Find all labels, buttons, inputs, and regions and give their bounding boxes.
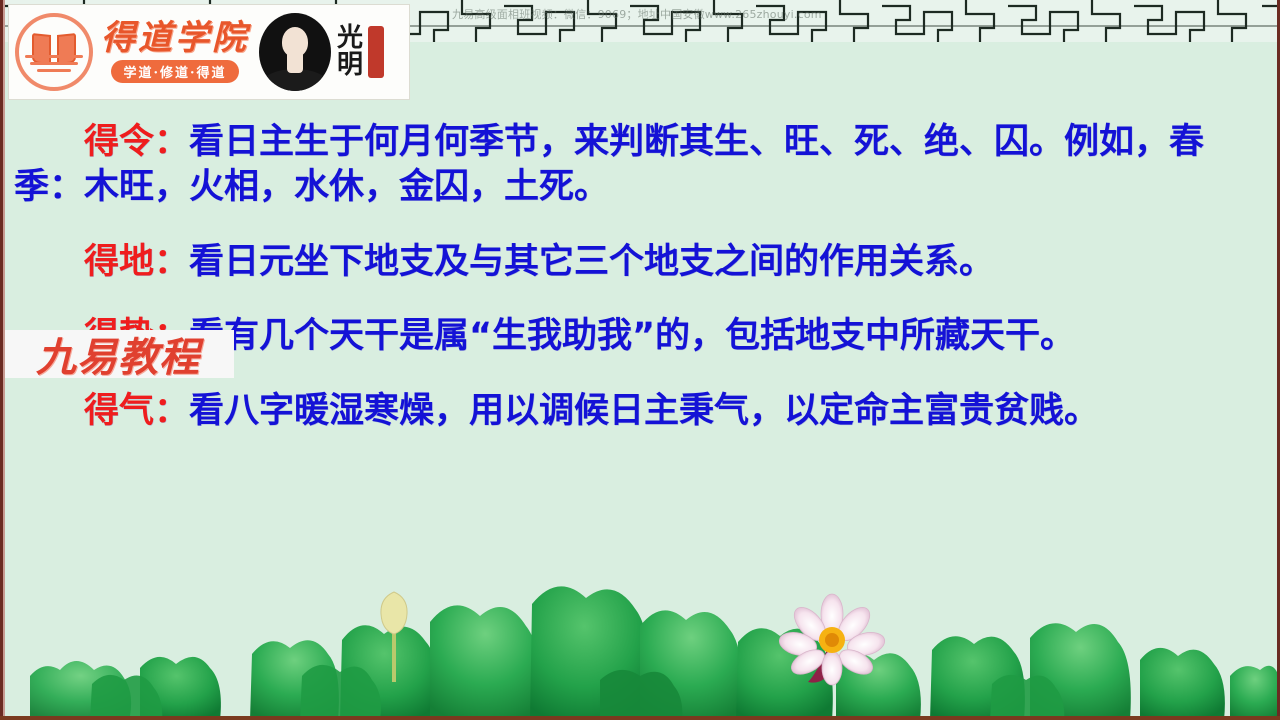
paragraph-deqi: 得气：看八字暖湿寒燥，用以调候日主秉气，以定命主富贵贫贱。 (14, 389, 1266, 434)
master-name-block: 光 明 (337, 25, 363, 80)
academy-banner-logo: 得道学院 学道·修道·得道 光 明 (8, 4, 410, 100)
master-portrait-icon (259, 13, 331, 91)
academy-title-block: 得道学院 学道·修道·得道 (101, 21, 249, 83)
paragraph-lead-dedi: 得地 (84, 242, 154, 282)
open-book-seal-icon (15, 13, 93, 91)
wave-lines-icon (25, 55, 83, 77)
paragraph-colon-3: ： (154, 391, 189, 431)
band-caption-text: 九易高级面相班视频：微信：9069；地址中国安徽www.265zhouyi.co… (452, 6, 822, 22)
course-watermark: 九易教程 (2, 330, 234, 378)
slide-body-text: 得令：看日主生于何月何季节，来判断其生、旺、死、绝、囚。例如，春季：木旺，火相，… (0, 120, 1280, 464)
paragraph-deling: 得令：看日主生于何月何季节，来判断其生、旺、死、绝、囚。例如，春季：木旺，火相，… (14, 120, 1266, 210)
paragraph-body-deshi: 看有几个天干是属“生我助我”的，包括地支中所藏天干。 (189, 316, 1075, 356)
paragraph-lead-deling: 得令 (84, 122, 154, 162)
academy-motto: 学道·修道·得道 (111, 60, 238, 83)
master-name-char2: 明 (337, 52, 363, 79)
master-name-char1: 光 (337, 25, 363, 52)
paragraph-lead-deqi: 得气 (84, 391, 154, 431)
paragraph-colon-0: ： (154, 122, 189, 162)
red-stamp-icon (368, 26, 384, 78)
lotus-flower (777, 594, 887, 685)
page-frame-bottom (0, 716, 1280, 720)
academy-name: 得道学院 (101, 21, 249, 55)
slide-canvas: 九易高级面相班视频：微信：9069；地址中国安徽www.265zhouyi.co… (0, 0, 1280, 720)
paragraph-colon-1: ： (154, 242, 189, 282)
lotus-bud (381, 592, 407, 682)
paragraph-dedi: 得地：看日元坐下地支及与其它三个地支之间的作用关系。 (14, 240, 1266, 285)
paragraph-body-dedi: 看日元坐下地支及与其它三个地支之间的作用关系。 (189, 242, 994, 282)
page-frame-left-inner (3, 0, 5, 720)
lotus-decoration (0, 580, 1280, 720)
paragraph-body-deqi: 看八字暖湿寒燥，用以调候日主秉气，以定命主富贵贫贱。 (189, 391, 1099, 431)
paragraph-body-deling: 看日主生于何月何季节，来判断其生、旺、死、绝、囚。例如，春季：木旺，火相，水休，… (14, 122, 1204, 207)
